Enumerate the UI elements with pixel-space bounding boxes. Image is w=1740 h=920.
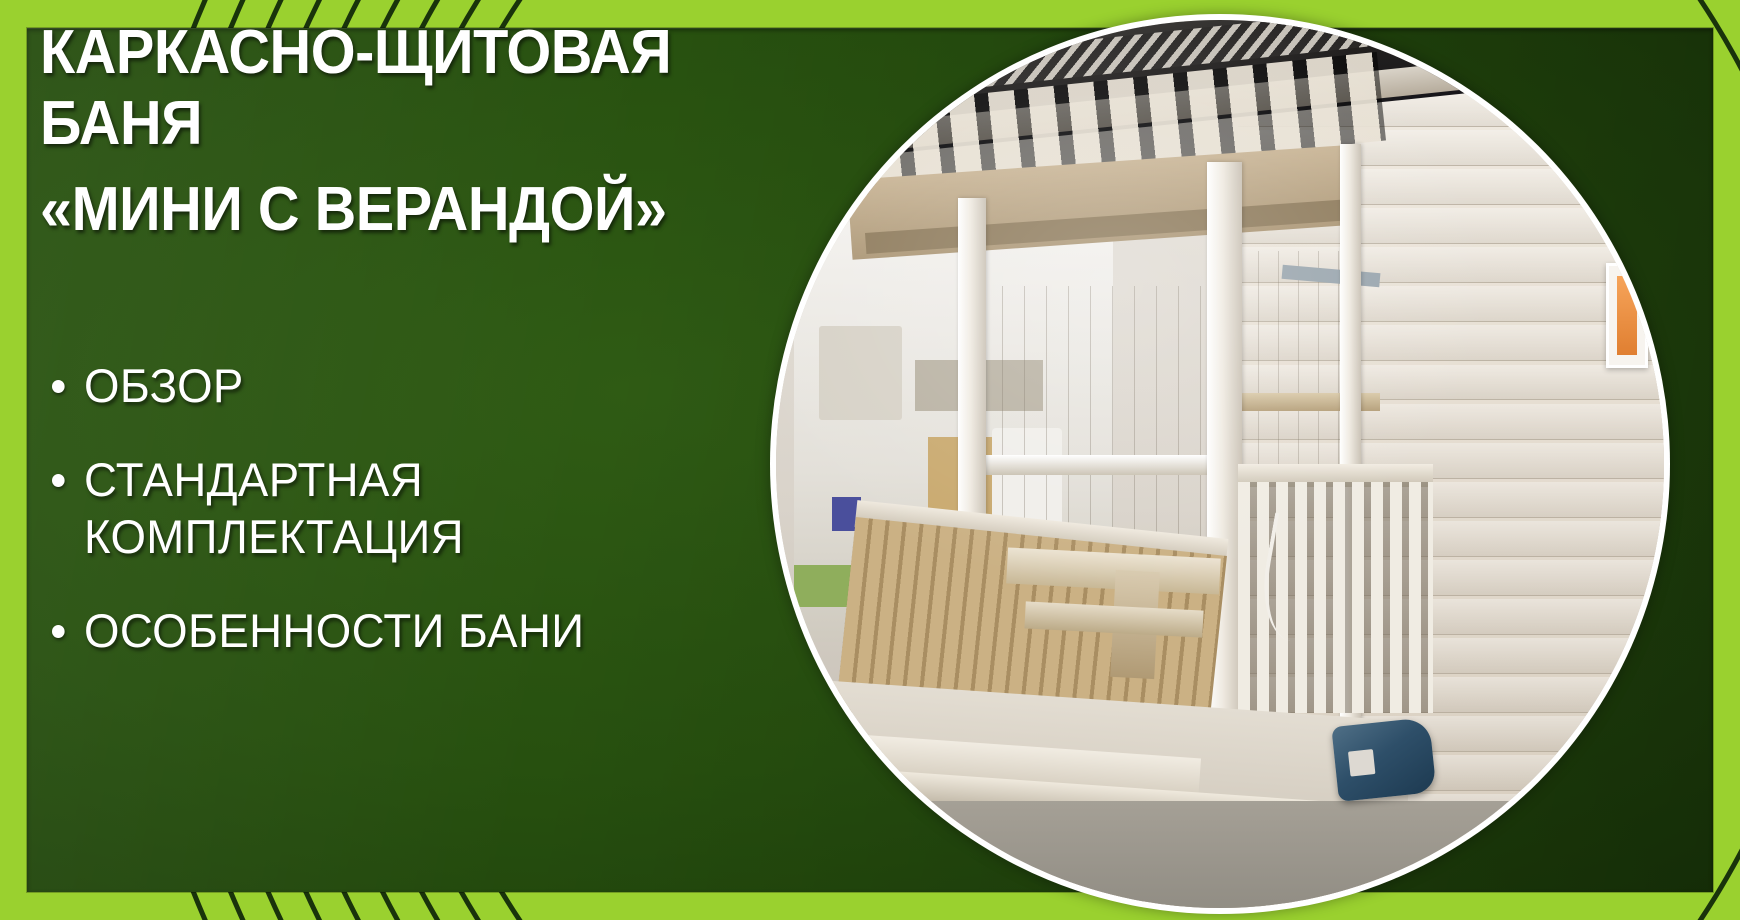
list-item: ОБЗОР [52,358,770,414]
title-line-3: «МИНИ С ВЕРАНДОЙ» [40,175,747,244]
bullet-label: ОБЗОР [84,358,244,414]
bullet-label: СТАНДАРТНАЯ КОМПЛЕКТАЦИЯ [84,452,464,565]
bullet-dot-icon [52,625,65,638]
title-line-2: БАНЯ [40,89,747,158]
bullet-label: ОСОБЕННОСТИ БАНИ [84,603,584,659]
tool-label [1348,748,1376,776]
sauna-scene [776,20,1664,908]
bullet-list: ОБЗОР СТАНДАРТНАЯ КОМПЛЕКТАЦИЯ ОСОБЕННОС… [52,358,792,660]
product-photo [770,14,1670,914]
workshop-slab [819,326,902,420]
slide-canvas: КАРКАСНО-ЩИТОВАЯ БАНЯ «МИНИ С ВЕРАНДОЙ» … [0,0,1740,920]
title-block: КАРКАСНО-ЩИТОВАЯ БАНЯ «МИНИ С ВЕРАНДОЙ» [40,18,800,244]
list-item: ОСОБЕННОСТИ БАНИ [52,603,770,659]
sauna-window [1606,263,1648,368]
window-glass [1617,276,1637,356]
bullet-dot-icon [52,380,65,393]
title-line-1: КАРКАСНО-ЩИТОВАЯ [40,18,747,87]
photo-image [776,20,1664,908]
blue-power-tool [1332,717,1437,802]
list-item: СТАНДАРТНАЯ КОМПЛЕКТАЦИЯ [52,452,770,565]
floor-ground [776,801,1664,908]
bullet-dot-icon [52,474,65,487]
